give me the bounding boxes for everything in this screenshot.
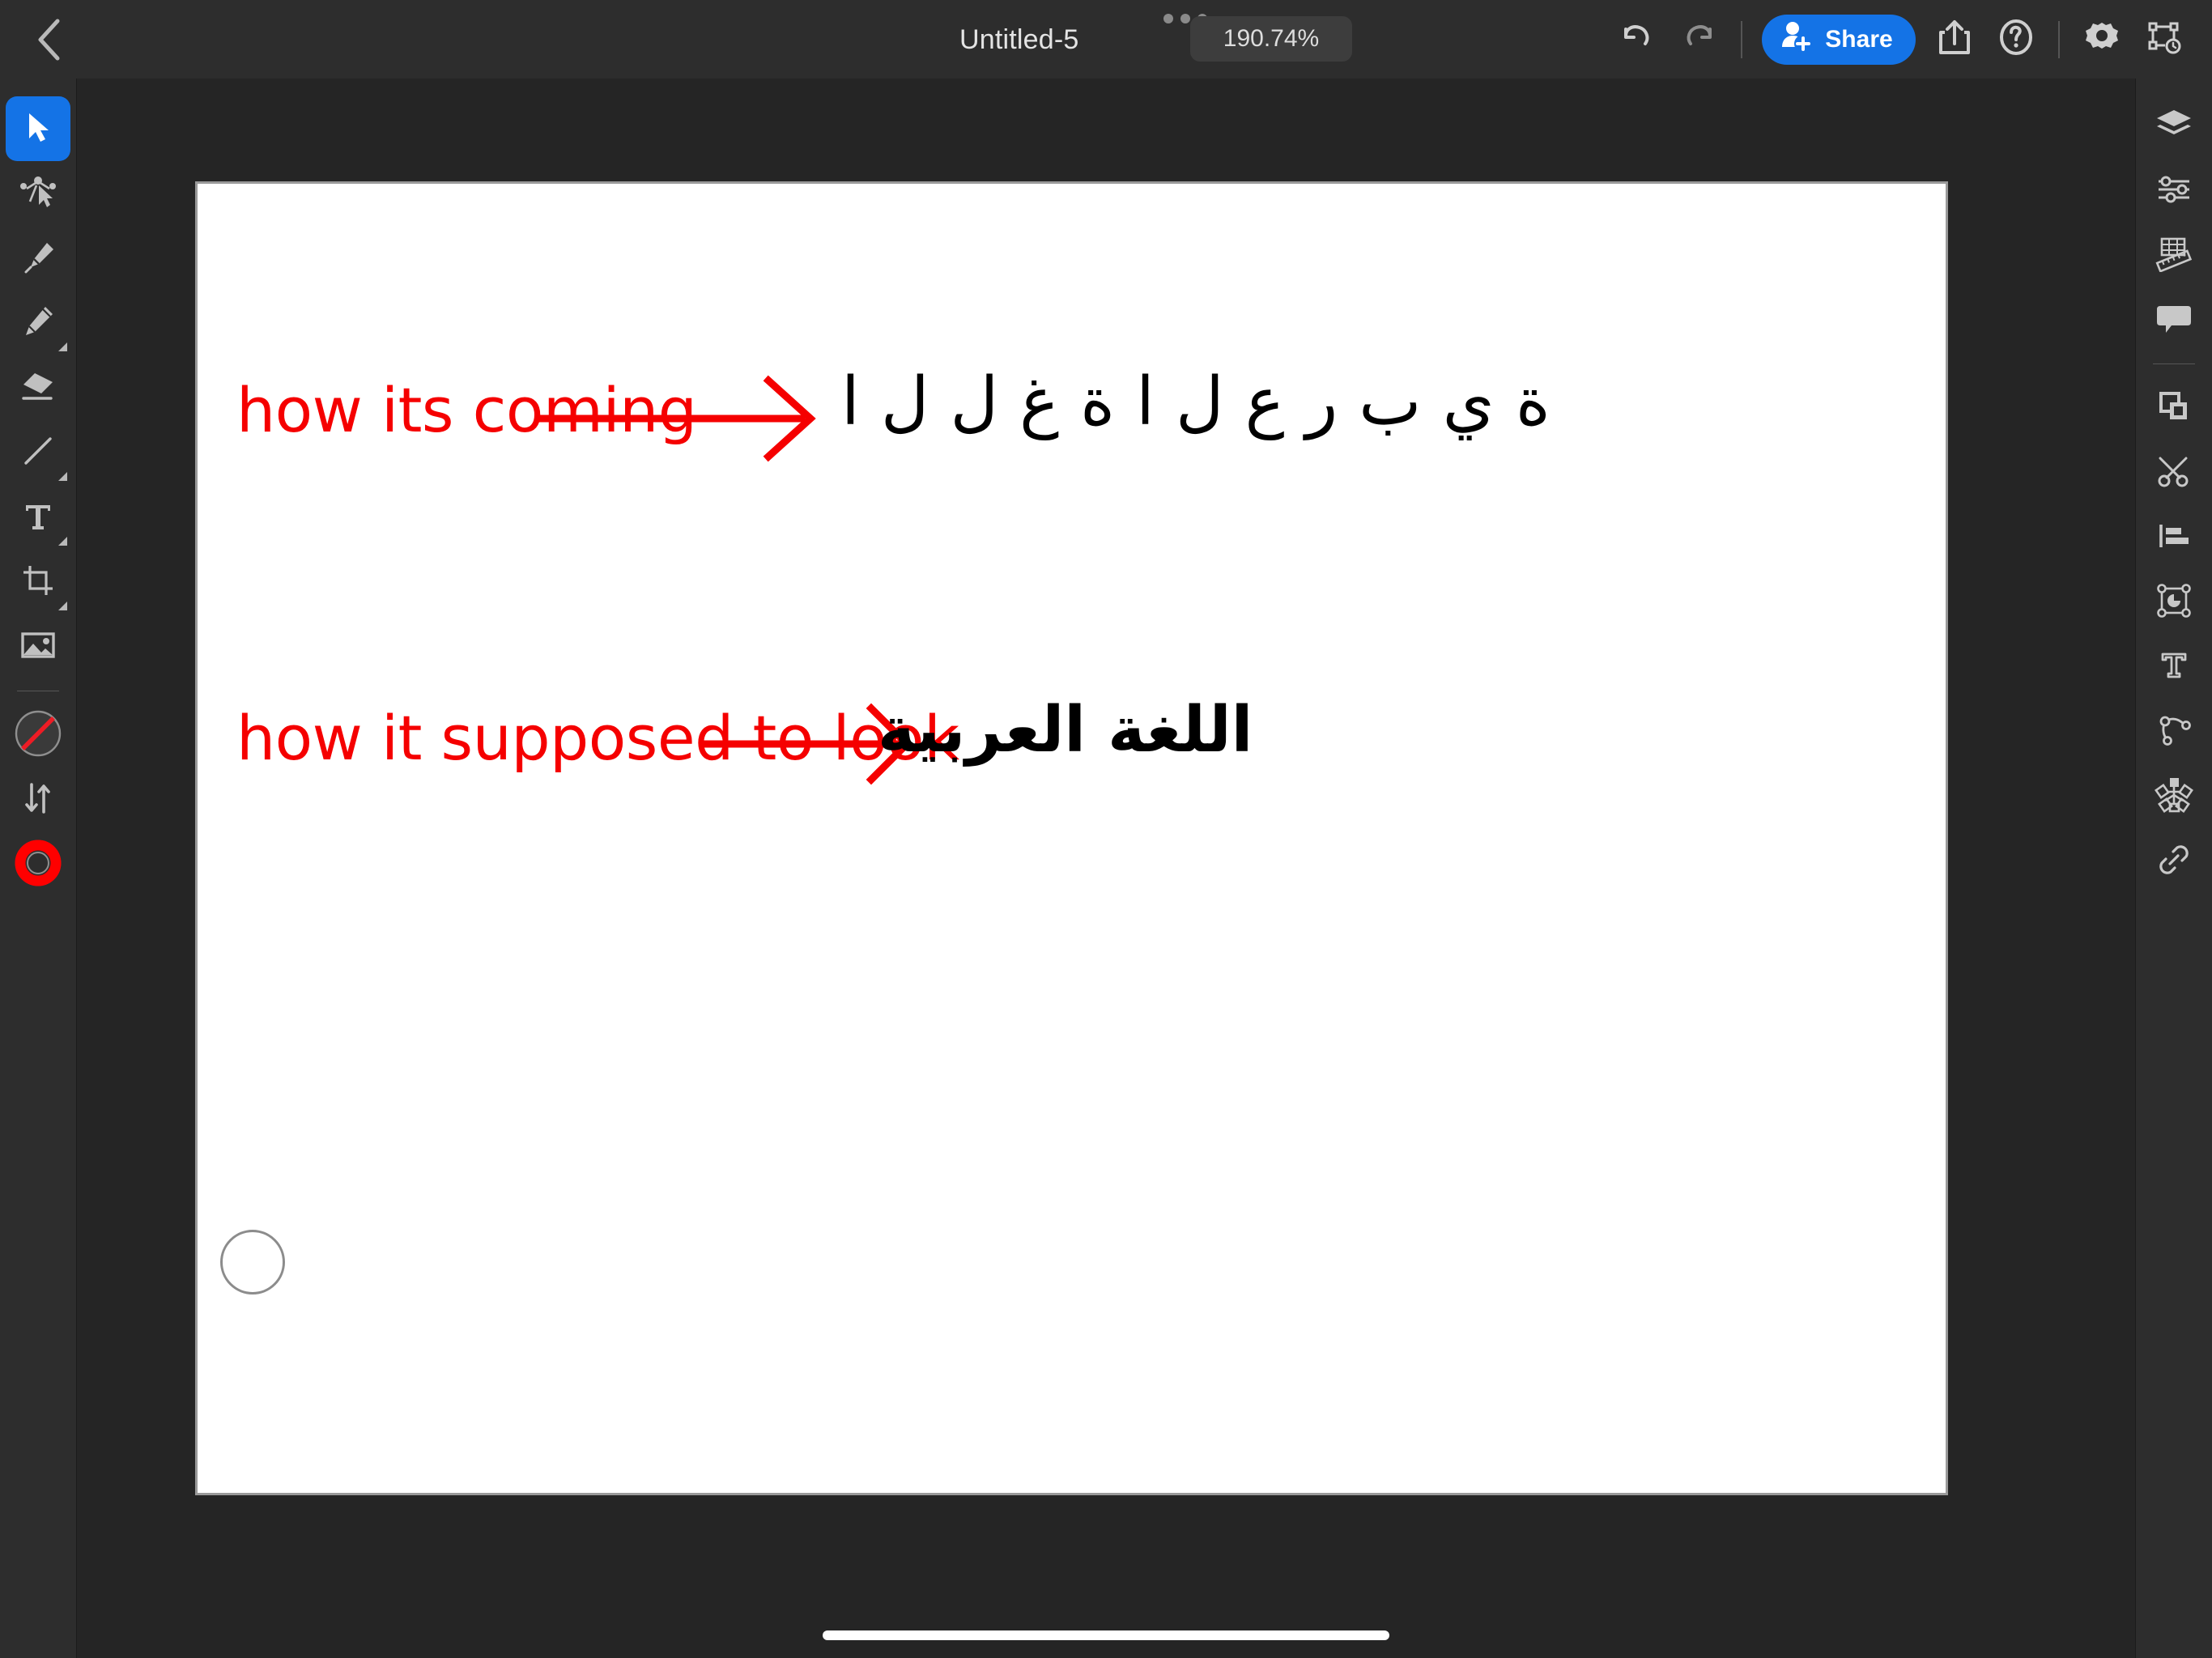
pen-icon xyxy=(19,238,57,279)
tool-flyout-indicator[interactable] xyxy=(58,602,67,610)
stroke-color-icon xyxy=(13,838,63,892)
back-button[interactable] xyxy=(24,15,74,65)
panel-properties[interactable] xyxy=(2142,158,2206,223)
redo-button[interactable] xyxy=(1668,9,1729,70)
document-title-group: Untitled-5 190.74% xyxy=(891,0,1295,79)
tool-flyout-indicator[interactable] xyxy=(58,472,67,481)
toolbar-divider xyxy=(2058,21,2060,58)
export-button[interactable] xyxy=(1924,9,1985,70)
arabic-text-correct: اللغة العربية xyxy=(878,694,1331,767)
tool-type[interactable] xyxy=(6,485,70,550)
no-fill-icon xyxy=(13,708,63,763)
tool-artboard[interactable] xyxy=(6,550,70,614)
text-format-icon xyxy=(2157,648,2191,687)
illustrator-app-window: Untitled-5 190.74% xyxy=(0,0,2212,1658)
top-toolbar: Untitled-5 190.74% xyxy=(0,0,2212,79)
panel-transform[interactable] xyxy=(2142,570,2206,635)
tool-line[interactable] xyxy=(6,420,70,485)
undo-icon xyxy=(1618,21,1657,57)
panel-grid-ruler[interactable] xyxy=(2142,223,2206,287)
gear-icon xyxy=(2082,18,2121,61)
artboard[interactable]: how its coming ا ل ل غ ة ا ل ع ر ب ي ة h… xyxy=(195,181,1948,1495)
panel-repeat[interactable] xyxy=(2142,764,2206,829)
back-chevron-icon xyxy=(36,17,63,62)
panel-align[interactable] xyxy=(2142,505,2206,570)
panel-comments[interactable] xyxy=(2142,287,2206,352)
annotation-arrow-broken xyxy=(538,366,829,471)
tool-pencil[interactable] xyxy=(6,291,70,355)
tool-selection[interactable] xyxy=(6,96,70,161)
align-left-icon xyxy=(2156,521,2192,555)
link-icon xyxy=(2156,842,2192,882)
arrange-icon xyxy=(2156,389,2192,428)
panel-arrange[interactable] xyxy=(2142,376,2206,440)
zoom-level-pill[interactable]: 190.74% xyxy=(1190,16,1352,62)
tool-flyout-indicator[interactable] xyxy=(58,342,67,351)
invite-person-icon xyxy=(1778,18,1815,62)
panel-linked-assets[interactable] xyxy=(2142,829,2206,894)
ellipse-shape[interactable] xyxy=(220,1230,285,1295)
document-title[interactable]: Untitled-5 xyxy=(959,24,1079,56)
share-button-label: Share xyxy=(1825,26,1892,53)
image-icon xyxy=(19,630,57,665)
layers-icon xyxy=(2155,107,2193,145)
rail-divider xyxy=(2153,363,2195,364)
tool-image[interactable] xyxy=(6,614,70,679)
arabic-text-broken: ا ل ل غ ة ا ل ع ر ب ي ة xyxy=(841,363,1551,440)
tool-pen[interactable] xyxy=(6,226,70,291)
direct-select-icon xyxy=(19,174,57,214)
help-question-icon xyxy=(1997,18,2035,61)
rail-divider xyxy=(17,691,59,691)
radial-repeat-icon xyxy=(2155,776,2193,818)
tool-flyout-indicator[interactable] xyxy=(58,537,67,546)
fill-swatch[interactable] xyxy=(6,703,70,767)
eraser-icon xyxy=(19,369,57,407)
scissors-icon xyxy=(2155,454,2193,492)
stroke-swatch[interactable] xyxy=(6,832,70,897)
settings-button[interactable] xyxy=(2071,9,2133,70)
panel-layers[interactable] xyxy=(2142,93,2206,158)
sliders-icon xyxy=(2155,172,2193,209)
status-dot xyxy=(1180,14,1190,23)
canvas-area[interactable]: Artboard 1 how its coming ا ل ل غ ة ا ل … xyxy=(77,79,2135,1658)
status-dot xyxy=(1163,14,1173,23)
grid-ruler-icon xyxy=(2154,235,2194,276)
toolbar-divider xyxy=(1741,21,1742,58)
export-upload-icon xyxy=(1937,18,1972,61)
cursor-arrow-icon xyxy=(22,109,54,149)
panel-scissors[interactable] xyxy=(2142,440,2206,505)
line-icon xyxy=(20,433,56,473)
help-button[interactable] xyxy=(1985,9,2047,70)
type-tool-icon xyxy=(21,499,55,537)
left-tool-rail xyxy=(0,79,77,1658)
tool-direct-selection[interactable] xyxy=(6,161,70,226)
panel-path[interactable] xyxy=(2142,699,2206,764)
undo-button[interactable] xyxy=(1606,9,1668,70)
home-indicator xyxy=(823,1630,1389,1640)
publish-path-icon xyxy=(2144,18,2183,61)
swap-fill-stroke-button[interactable] xyxy=(6,767,70,832)
bezier-path-icon xyxy=(2155,713,2193,751)
publish-button[interactable] xyxy=(2133,9,2194,70)
transform-icon xyxy=(2155,582,2193,623)
swap-arrows-icon xyxy=(22,781,54,819)
comment-bubble-icon xyxy=(2155,301,2193,339)
redo-icon xyxy=(1679,21,1718,57)
tool-eraser[interactable] xyxy=(6,355,70,420)
top-right-actions: Share xyxy=(1606,0,2212,79)
share-button[interactable]: Share xyxy=(1762,15,1916,65)
right-tool-rail xyxy=(2135,79,2212,1658)
crop-artboard-icon xyxy=(20,563,56,602)
panel-text-properties[interactable] xyxy=(2142,635,2206,699)
pencil-icon xyxy=(19,303,57,344)
